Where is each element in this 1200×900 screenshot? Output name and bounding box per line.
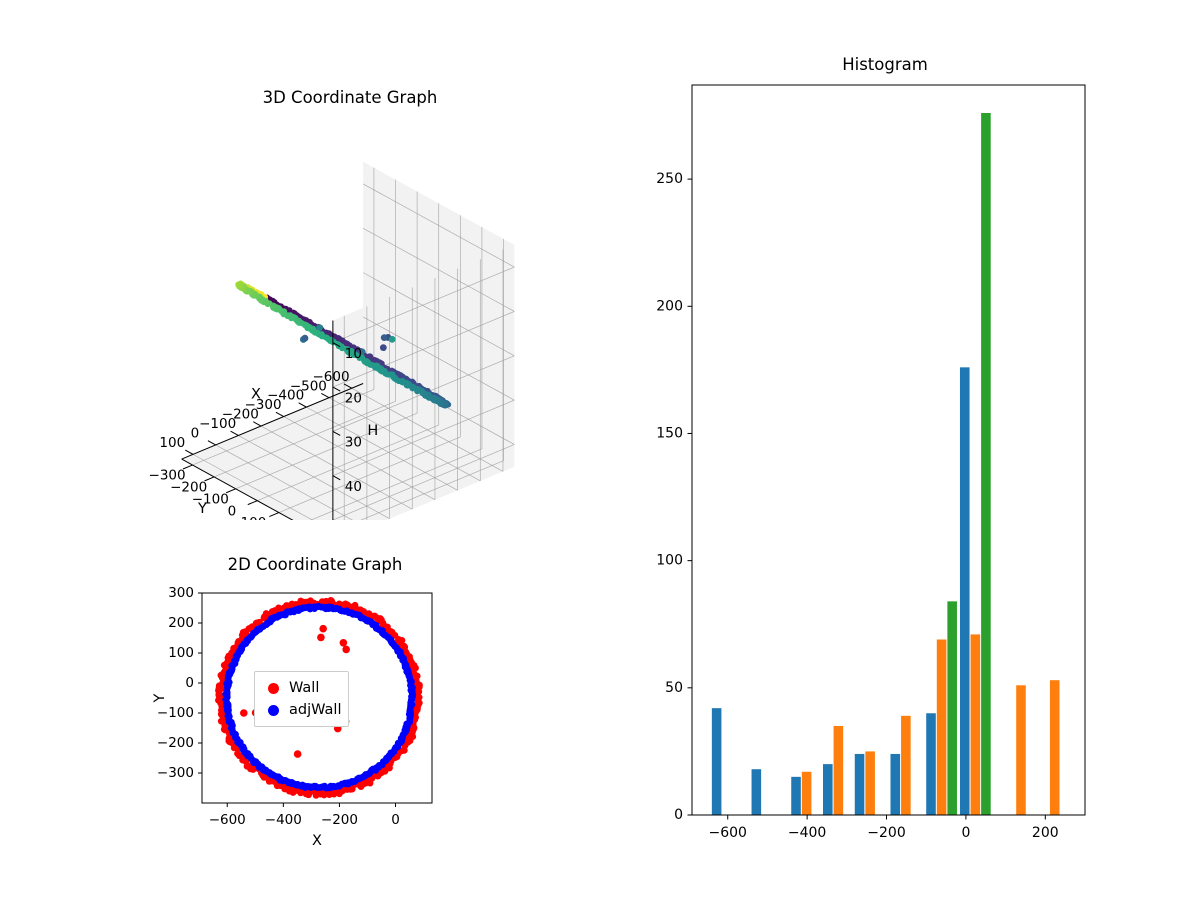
histogram-xtick-label: 0 — [961, 825, 970, 841]
plot3d-point — [381, 334, 388, 341]
histogram-bar — [981, 113, 991, 815]
plot2d-ytick-label: −100 — [157, 705, 194, 721]
plot3d-point — [302, 335, 309, 342]
plot2d-ytick-label: 0 — [185, 675, 194, 691]
plot3d-ytick-label: 100 — [241, 515, 267, 520]
legend-marker-adjwall — [268, 705, 279, 716]
plot2d-ytick-label: 300 — [168, 585, 194, 601]
histogram-bar — [855, 754, 865, 815]
plot2d-outlier-point — [294, 750, 302, 758]
plot2d-ytick-label: −200 — [157, 735, 194, 751]
histogram-xtick-label: −400 — [788, 825, 826, 841]
plot2d-outlier-point — [319, 625, 327, 633]
plot2d-legend: Wall adjWall — [254, 671, 349, 727]
plot2d-outlier-point — [342, 646, 350, 654]
histogram-bar — [834, 726, 844, 815]
histogram-bar — [971, 634, 981, 815]
histogram-xtick-label: −200 — [867, 825, 905, 841]
histogram-bar — [802, 772, 812, 815]
histogram-bar — [712, 708, 722, 815]
plot3d-point — [389, 336, 396, 343]
plot2d-outlier-point — [317, 634, 325, 642]
panel-histogram: Histogram −600−400−200020005010015020025… — [655, 55, 1100, 845]
histogram-bar — [947, 601, 957, 815]
histogram-bar — [926, 713, 936, 815]
plot2d-xtick-label: −600 — [209, 812, 246, 828]
plot3d-xtick — [208, 441, 216, 445]
plot3d-ztick-label: 40 — [345, 479, 362, 495]
legend-item-adjwall: adjWall — [262, 699, 341, 721]
panel-2d-coordinate-graph: 2D Coordinate Graph −600−400−2000−300−20… — [150, 555, 470, 860]
plot2d-ytick-label: −300 — [157, 765, 194, 781]
plot3d-xtick-label: 0 — [191, 426, 200, 442]
plot2d-outlier-point — [340, 639, 348, 647]
histogram-bar — [865, 751, 875, 815]
histogram-bar — [752, 769, 762, 815]
legend-marker-wall — [268, 683, 279, 694]
plot3d-ztick-label: 10 — [345, 346, 362, 362]
plot3d-ytick — [248, 501, 258, 505]
plot3d-point — [237, 282, 243, 288]
histogram-canvas: −600−400−2000200050100150200250 — [655, 55, 1100, 845]
plot3d-ytick-label: 0 — [228, 503, 237, 519]
legend-label-wall: Wall — [289, 680, 319, 696]
histogram-axes-frame — [692, 85, 1085, 815]
plot3d-zaxis-label: H — [367, 423, 378, 439]
plot3d-ytick — [269, 513, 279, 517]
histogram-xtick-label: 200 — [1032, 825, 1059, 841]
legend-item-wall: Wall — [262, 677, 341, 699]
plot3d-ztick-label: 30 — [345, 435, 362, 451]
plot2d-outlier-point — [240, 709, 248, 717]
matplotlib-figure: 3D Coordinate Graph −600−500−400−300−200… — [0, 0, 1200, 900]
histogram-xtick-label: −600 — [709, 825, 747, 841]
plot3d-yaxis-label: Y — [197, 501, 207, 517]
legend-label-adjwall: adjWall — [289, 702, 341, 718]
histogram-ytick-label: 250 — [656, 171, 683, 187]
plot3d-ztick-label: 20 — [345, 390, 362, 406]
plot3d-xtick-label: 100 — [159, 435, 185, 451]
panel-3d-coordinate-graph: 3D Coordinate Graph −600−500−400−300−200… — [120, 80, 580, 520]
histogram-ytick-label: 100 — [656, 553, 683, 569]
plot2d-ytick-label: 100 — [168, 645, 194, 661]
plot2d-yaxis-label: Y — [152, 693, 168, 703]
histogram-ytick-label: 200 — [656, 298, 683, 314]
plot2d-xaxis-label: X — [312, 833, 322, 849]
plot2d-point — [415, 697, 422, 704]
plot2d-xtick-label: 0 — [391, 812, 400, 828]
histogram-ytick-label: 150 — [656, 425, 683, 441]
plot3d-canvas: −600−500−400−300−200−1000100−300−200−100… — [120, 80, 580, 520]
histogram-bar — [1016, 685, 1026, 815]
histogram-bar — [890, 754, 900, 815]
plot2d-xtick-label: −200 — [321, 812, 358, 828]
plot2d-xtick-label: −400 — [265, 812, 302, 828]
histogram-ytick-label: 50 — [665, 680, 683, 696]
histogram-ytick-label: 0 — [674, 807, 683, 823]
plot3d-xtick-label: −100 — [199, 416, 236, 432]
plot3d-point — [380, 344, 387, 351]
plot2d-point — [408, 696, 415, 703]
plot3d-xtick — [185, 450, 193, 454]
histogram-bar — [1050, 680, 1060, 815]
plot2d-ytick-label: 200 — [168, 615, 194, 631]
histogram-bar — [960, 367, 970, 815]
histogram-bar — [823, 764, 833, 815]
histogram-bar — [937, 639, 947, 815]
plot3d-xaxis-label: X — [251, 387, 261, 403]
histogram-bar — [901, 716, 911, 815]
histogram-bar — [791, 777, 801, 815]
plot2d-point — [305, 791, 312, 798]
